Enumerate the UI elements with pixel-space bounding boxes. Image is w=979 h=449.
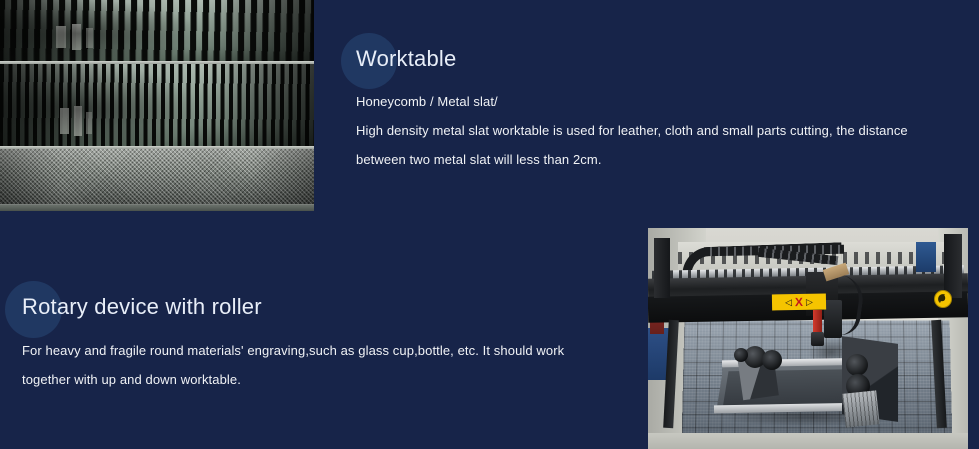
band-shading: [0, 64, 314, 146]
band-shading: [0, 0, 314, 61]
machine-photo: ◁ X ▷: [648, 228, 968, 449]
photo-band-honeycomb-mesh: [0, 149, 314, 211]
band-shading: [0, 149, 314, 211]
rotary-line-2: together with up and down worktable.: [22, 365, 622, 394]
photo-band-metal-slat-lower: [0, 64, 314, 146]
rotary-roller-wheel: [762, 350, 782, 370]
worktable-line-3: between two metal slat will less than 2c…: [356, 145, 966, 174]
stepper-motor: [842, 390, 879, 427]
rotary-line-1: For heavy and fragile round materials' e…: [22, 336, 622, 365]
band-separator: [0, 146, 314, 149]
brand-glyph-icon: [938, 294, 948, 304]
gantry-post-left: [654, 238, 670, 298]
mesh-front-lip: [0, 204, 314, 211]
arrow-right-icon: ▷: [806, 297, 813, 306]
brand-logo-sticker: [934, 290, 952, 308]
worktable-photo: [0, 0, 314, 211]
gantry-post-right: [944, 234, 962, 298]
worktable-heading: Worktable: [356, 44, 966, 74]
rotary-knob: [734, 348, 748, 362]
control-box: [916, 242, 936, 272]
worktable-text-block: Worktable Honeycomb / Metal slat/ High d…: [356, 44, 966, 174]
worktable-body: Honeycomb / Metal slat/ High density met…: [356, 87, 966, 174]
rotary-roller-wheel: [846, 354, 868, 376]
floor-strip: [648, 433, 968, 449]
band-separator: [0, 61, 314, 64]
x-axis-sticker: ◁ X ▷: [772, 294, 826, 311]
laser-head-body: [824, 300, 842, 338]
arrow-left-icon: ◁: [785, 298, 792, 307]
photo-band-metal-slat-upper: [0, 0, 314, 61]
motor-fins: [842, 390, 879, 427]
rotary-text-block: Rotary device with roller For heavy and …: [22, 292, 622, 394]
rotary-heading: Rotary device with roller: [22, 292, 622, 322]
page-root: ◁ X ▷ Worktable Honeycomb / Metal slat/ …: [0, 0, 979, 449]
x-axis-label: X: [795, 296, 803, 308]
worktable-line-1: Honeycomb / Metal slat/: [356, 87, 966, 116]
rotary-body: For heavy and fragile round materials' e…: [22, 336, 622, 394]
worktable-line-2: High density metal slat worktable is use…: [356, 116, 966, 145]
